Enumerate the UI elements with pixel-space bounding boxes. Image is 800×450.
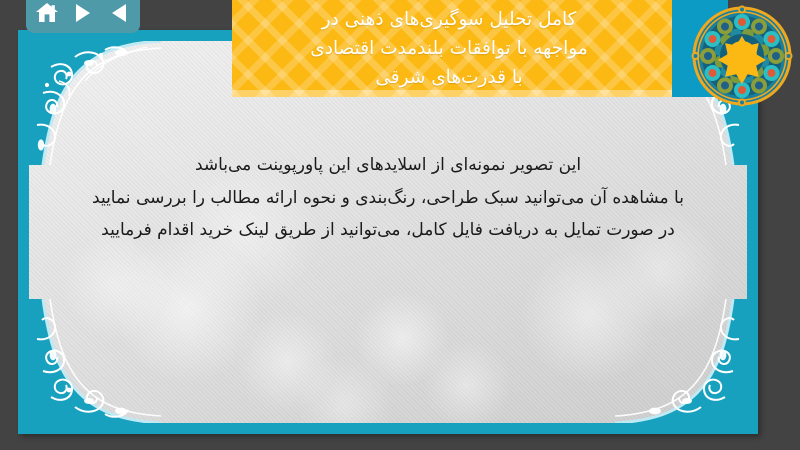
corner-ornament-top-left xyxy=(29,41,161,165)
banner-body: کامل تحلیل سوگیری‌های ذهنی در مواجهه با … xyxy=(232,0,672,97)
title-line-1: کامل تحلیل سوگیری‌های ذهنی در xyxy=(236,5,662,34)
body-line-1: این تصویر نمونه‌ای از اسلایدهای این پاور… xyxy=(55,149,721,182)
triangle-left-icon[interactable] xyxy=(110,3,128,23)
slide-canvas: این تصویر نمونه‌ای از اسلایدهای این پاور… xyxy=(0,0,800,450)
body-line-3: در صورت تمایل به دریافت فایل کامل، می‌تو… xyxy=(55,214,721,247)
body-line-2: با مشاهده آن می‌توانید سبک طراحی، رنگ‌بن… xyxy=(55,182,721,215)
title-line-2: مواجهه با توافقات بلندمدت اقتصادی xyxy=(236,34,662,63)
next-button[interactable] xyxy=(70,1,96,25)
navigation-bar xyxy=(26,0,140,33)
home-button[interactable] xyxy=(34,1,60,25)
title-banner: کامل تحلیل سوگیری‌های ذهنی در مواجهه با … xyxy=(232,0,728,97)
medallion-ornament-icon xyxy=(690,4,794,108)
previous-button[interactable] xyxy=(106,1,132,25)
content-card-surface: این تصویر نمونه‌ای از اسلایدهای این پاور… xyxy=(29,41,747,423)
triangle-right-icon[interactable] xyxy=(74,3,92,23)
page-title: کامل تحلیل سوگیری‌های ذهنی در مواجهه با … xyxy=(232,5,672,93)
corner-ornament-bottom-right xyxy=(615,299,747,423)
slide-body-text: این تصویر نمونه‌ای از اسلایدهای این پاور… xyxy=(29,149,747,247)
title-line-3: با قدرت‌های شرقی xyxy=(236,63,662,92)
corner-ornament-bottom-left xyxy=(29,299,161,423)
home-icon[interactable] xyxy=(35,2,59,24)
